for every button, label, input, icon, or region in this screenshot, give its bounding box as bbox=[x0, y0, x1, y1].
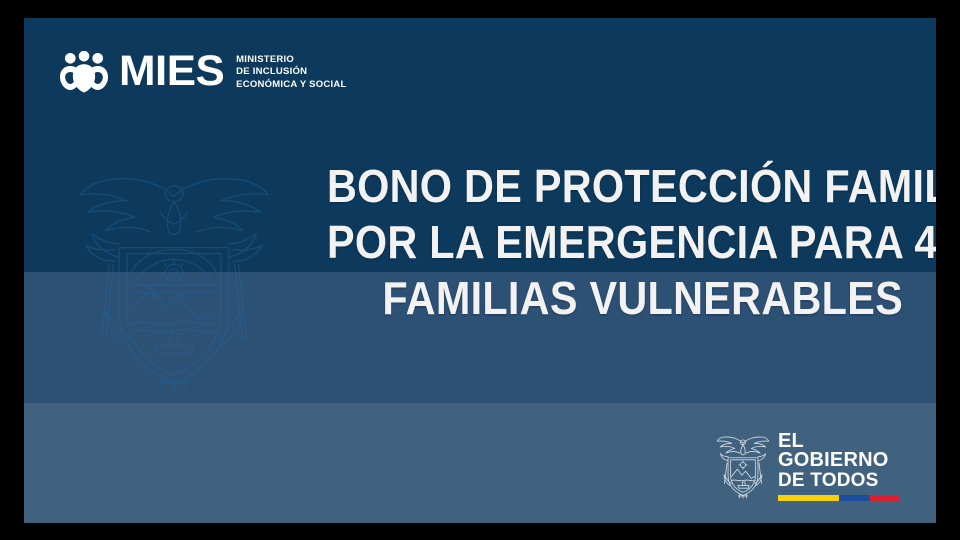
government-logo-text: EL GOBIERNO DE TODOS bbox=[778, 432, 900, 502]
headline-line-2: POR LA EMERGENCIA PARA 400 MIL bbox=[327, 214, 903, 270]
headline-line-3: FAMILIAS VULNERABLES bbox=[327, 270, 903, 326]
government-logo: EL GOBIERNO DE TODOS bbox=[717, 432, 900, 502]
headline-line-1: BONO DE PROTECCIÓN FAMILIAR bbox=[327, 158, 903, 214]
ecuador-flag-bar bbox=[778, 495, 900, 501]
slide-canvas: MIES MINISTERIO DE INCLUSIÓN ECONÓMICA Y… bbox=[24, 18, 936, 523]
government-logo-line-2: GOBIERNO bbox=[778, 451, 900, 471]
three-people-group-icon bbox=[60, 51, 108, 93]
mies-logo: MIES MINISTERIO DE INCLUSIÓN ECONÓMICA Y… bbox=[60, 50, 347, 93]
flag-stripe-yellow bbox=[778, 495, 839, 501]
ministry-subtitle-line-3: ECONÓMICA Y SOCIAL bbox=[236, 79, 346, 91]
flag-stripe-blue bbox=[839, 495, 870, 501]
government-logo-line-3: DE TODOS bbox=[778, 471, 900, 491]
ministry-subtitle-line-2: DE INCLUSIÓN bbox=[236, 66, 346, 78]
headline-block: BONO DE PROTECCIÓN FAMILIAR POR LA EMERG… bbox=[263, 158, 903, 326]
mies-wordmark: MIES bbox=[119, 50, 224, 93]
ministry-subtitle: MINISTERIO DE INCLUSIÓN ECONÓMICA Y SOCI… bbox=[236, 52, 346, 90]
ecuador-coat-of-arms-icon bbox=[717, 433, 769, 499]
slide-stage: MIES MINISTERIO DE INCLUSIÓN ECONÓMICA Y… bbox=[0, 0, 960, 540]
ministry-subtitle-line-1: MINISTERIO bbox=[236, 54, 346, 66]
flag-stripe-red bbox=[870, 495, 901, 501]
